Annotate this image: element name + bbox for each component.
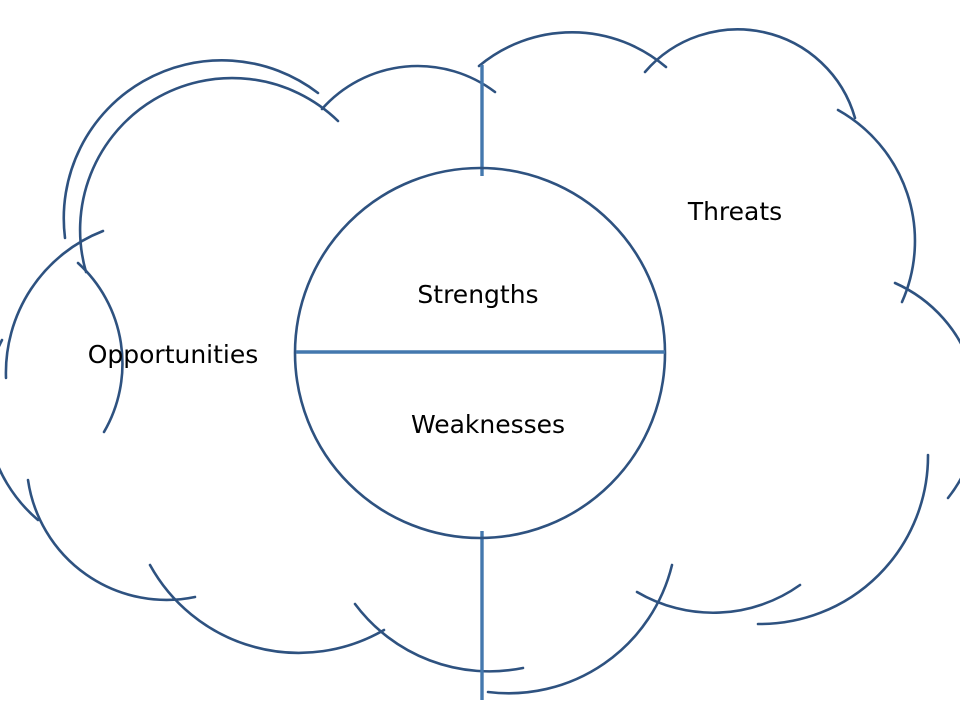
- cloud-arc-5: [645, 29, 855, 118]
- label-weaknesses: Weaknesses: [411, 410, 565, 439]
- cloud-arc-12: [150, 565, 384, 653]
- cloud-arc-3: [322, 66, 495, 109]
- swot-diagram-canvas: Strengths Weaknesses Opportunities Threa…: [0, 0, 960, 720]
- cloud-arc-1: [80, 78, 338, 272]
- label-opportunities: Opportunities: [88, 340, 259, 369]
- swot-cloud-svg: Strengths Weaknesses Opportunities Threa…: [0, 0, 960, 720]
- cloud-arc-6: [838, 110, 915, 302]
- cloud-arc-4: [479, 32, 666, 67]
- cloud-arc-10: [488, 565, 672, 693]
- cloud-arc-9: [637, 585, 800, 613]
- label-threats: Threats: [687, 197, 782, 226]
- cloud-arc-8: [758, 455, 928, 624]
- cloud-arc-13: [28, 480, 195, 600]
- label-strengths: Strengths: [417, 280, 538, 309]
- cloud-arc-11: [355, 604, 523, 671]
